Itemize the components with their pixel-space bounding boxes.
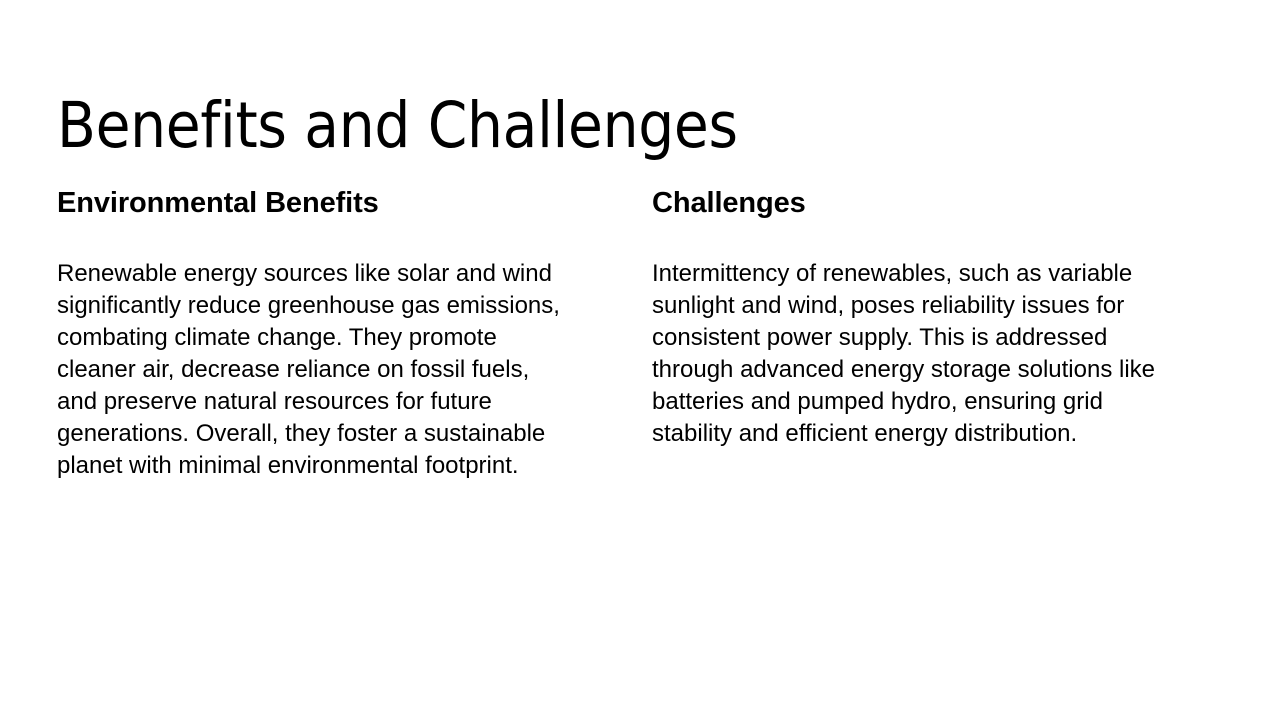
page-title: Benefits and Challenges [57, 94, 1217, 157]
column-challenges: Challenges Intermittency of renewables, … [595, 186, 1195, 450]
content-columns: Environmental Benefits Renewable energy … [0, 186, 1280, 482]
column-body-environmental-benefits: Renewable energy sources like solar and … [57, 258, 573, 482]
column-heading-environmental-benefits: Environmental Benefits [57, 186, 573, 220]
column-body-challenges: Intermittency of renewables, such as var… [652, 258, 1167, 450]
slide: Benefits and Challenges Environmental Be… [0, 0, 1280, 720]
column-heading-challenges: Challenges [652, 186, 1167, 220]
column-environmental-benefits: Environmental Benefits Renewable energy … [0, 186, 595, 482]
